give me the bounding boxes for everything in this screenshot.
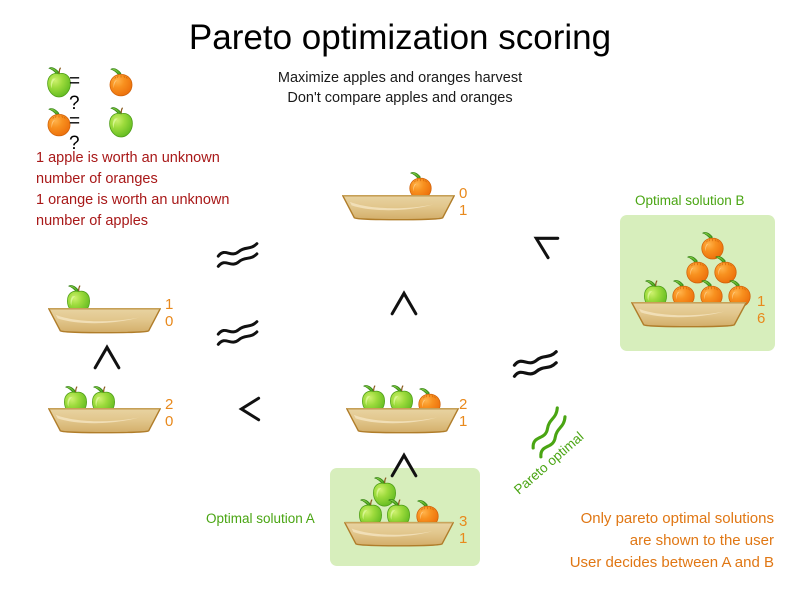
score-oranges: 6 — [757, 310, 765, 327]
footer-line-2: are shown to the user — [450, 530, 774, 552]
legend-note-line-3: 1 orange is worth an unknown — [36, 190, 316, 211]
subtitle-line-2: Don't compare apples and oranges — [210, 88, 590, 108]
fruit-bowl — [343, 520, 455, 549]
footer-line-3: User decides between A and B — [450, 552, 774, 574]
page-title: Pareto optimization scoring — [0, 18, 800, 58]
approximately-equal-icon — [512, 348, 566, 380]
score-apples: 1 — [757, 293, 765, 310]
subtitle: Maximize apples and oranges harvest Don'… — [210, 68, 590, 108]
fruit-bowl — [341, 193, 456, 223]
score-oranges: 0 — [165, 413, 173, 430]
legend-note-line-1: 1 apple is worth an unknown — [36, 148, 316, 169]
legend-note-line-4: number of apples — [36, 211, 316, 232]
fruit-bowl — [47, 306, 162, 336]
optimal-solution-a-label: Optimal solution A — [206, 511, 315, 526]
score-apples: 1 — [165, 296, 173, 313]
score-apples: 2 — [459, 396, 467, 413]
score-top-middle: 0 1 — [459, 185, 467, 219]
score-apples: 0 — [459, 185, 467, 202]
less-than-icon — [238, 395, 262, 423]
footer-note: Only pareto optimal solutions are shown … — [450, 508, 774, 574]
score-solution-b: 1 6 — [757, 293, 765, 327]
orange-icon — [102, 63, 140, 101]
legend-note-line-2: number of oranges — [36, 169, 316, 190]
fruit-bowl — [345, 406, 460, 436]
footer-line-1: Only pareto optimal solutions — [450, 508, 774, 530]
apple-icon — [102, 103, 140, 141]
legend-note: 1 apple is worth an unknown number of or… — [36, 148, 316, 232]
score-center-middle: 2 1 — [459, 396, 467, 430]
approximately-equal-icon — [216, 240, 266, 270]
greater-than-rotated-icon — [390, 452, 418, 478]
fruit-bowl — [47, 406, 162, 436]
score-left-lower: 2 0 — [165, 396, 173, 430]
score-apples: 2 — [165, 396, 173, 413]
subtitle-line-1: Maximize apples and oranges harvest — [210, 68, 590, 88]
less-than-rotated-icon — [533, 234, 561, 262]
score-oranges: 0 — [165, 313, 173, 330]
greater-than-rotated-icon — [93, 344, 121, 370]
score-oranges: 1 — [459, 202, 467, 219]
fruit-bowl — [630, 300, 748, 330]
score-left-upper: 1 0 — [165, 296, 173, 330]
optimal-solution-b-label: Optimal solution B — [635, 193, 745, 208]
approximately-equal-icon — [216, 318, 266, 348]
score-oranges: 1 — [459, 413, 467, 430]
pareto-optimal-tag: Pareto optimal — [505, 430, 625, 510]
greater-than-rotated-icon — [390, 290, 418, 316]
